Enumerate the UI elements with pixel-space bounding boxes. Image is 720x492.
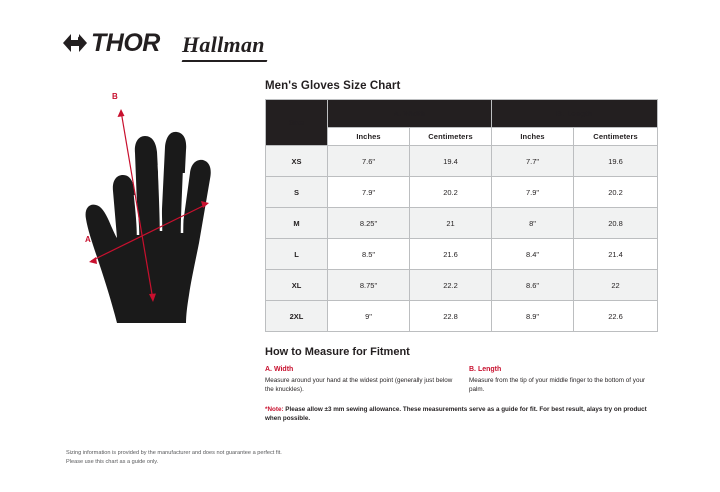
cell-size: L	[266, 239, 328, 270]
cell-width-cm: 22.8	[410, 301, 492, 332]
table-row: 2XL 9" 22.8 8.9" 22.6	[266, 301, 658, 332]
cell-width-cm: 22.2	[410, 270, 492, 301]
header-length-inches: Inches	[492, 128, 574, 146]
cell-length-cm: 20.8	[574, 208, 658, 239]
header-group-length: B. Length	[492, 100, 658, 128]
brand-logos: THOR Hallman	[62, 30, 282, 70]
measure-width-body: Measure around your hand at the widest p…	[265, 376, 453, 394]
size-chart-table: Size A. Width B. Length Inches Centimete…	[265, 99, 658, 332]
hand-illustration	[55, 95, 255, 325]
table-row: L 8.5" 21.6 8.4" 21.4	[266, 239, 658, 270]
table-row: S 7.9" 20.2 7.9" 20.2	[266, 177, 658, 208]
hallman-wordmark: Hallman	[182, 32, 265, 58]
footer-line-1: Sizing information is provided by the ma…	[66, 449, 282, 458]
cell-length-cm: 19.6	[574, 146, 658, 177]
cell-width-inches: 8.5"	[328, 239, 410, 270]
measure-length-block: B. Length Measure from the tip of your m…	[469, 366, 657, 394]
measure-width-block: A. Width Measure around your hand at the…	[265, 366, 453, 394]
cell-width-inches: 7.6"	[328, 146, 410, 177]
cell-length-inches: 8.9"	[492, 301, 574, 332]
cell-size: XL	[266, 270, 328, 301]
size-chart-panel: Men's Gloves Size Chart Size A. Width B.…	[265, 80, 657, 424]
cell-width-inches: 7.9"	[328, 177, 410, 208]
footer-disclaimer: Sizing information is provided by the ma…	[66, 449, 282, 467]
table-header-group-row: Size A. Width B. Length	[266, 100, 658, 128]
measure-width-heading: A. Width	[265, 366, 453, 373]
cell-width-cm: 20.2	[410, 177, 492, 208]
page-title: Men's Gloves Size Chart	[265, 80, 657, 92]
cell-length-cm: 22	[574, 270, 658, 301]
measurement-note: *Note: Please allow ±3 mm sewing allowan…	[265, 405, 650, 423]
table-row: XL 8.75" 22.2 8.6" 22	[266, 270, 658, 301]
cell-width-cm: 21	[410, 208, 492, 239]
diagram-label-b: B	[112, 92, 118, 101]
measure-length-heading: B. Length	[469, 366, 657, 373]
footer-line-2: Please use this chart as a guide only.	[66, 458, 282, 467]
header-width-centimeters: Centimeters	[410, 128, 492, 146]
header-length-centimeters: Centimeters	[574, 128, 658, 146]
cell-size: M	[266, 208, 328, 239]
note-label: *Note:	[265, 406, 284, 413]
measure-length-body: Measure from the tip of your middle fing…	[469, 376, 657, 394]
cell-size: XS	[266, 146, 328, 177]
cell-length-inches: 8.4"	[492, 239, 574, 270]
cell-width-inches: 8.25"	[328, 208, 410, 239]
diagram-label-a: A	[85, 235, 91, 244]
note-text: Please allow ±3 mm sewing allowance. The…	[265, 406, 647, 422]
table-row: XS 7.6" 19.4 7.7" 19.6	[266, 146, 658, 177]
cell-length-cm: 22.6	[574, 301, 658, 332]
cell-length-inches: 8"	[492, 208, 574, 239]
cell-width-inches: 9"	[328, 301, 410, 332]
header-group-width: A. Width	[328, 100, 492, 128]
cell-width-cm: 19.4	[410, 146, 492, 177]
thor-wordmark: THOR	[91, 31, 160, 56]
header-width-inches: Inches	[328, 128, 410, 146]
cell-length-cm: 20.2	[574, 177, 658, 208]
how-to-measure-title: How to Measure for Fitment	[265, 346, 657, 358]
header-size: Size	[266, 100, 328, 146]
cell-length-inches: 7.7"	[492, 146, 574, 177]
cell-length-inches: 8.6"	[492, 270, 574, 301]
cell-size: 2XL	[266, 301, 328, 332]
cell-width-cm: 21.6	[410, 239, 492, 270]
thor-hammer-icon	[62, 30, 88, 56]
cell-size: S	[266, 177, 328, 208]
cell-length-cm: 21.4	[574, 239, 658, 270]
cell-width-inches: 8.75"	[328, 270, 410, 301]
how-to-measure-section: How to Measure for Fitment A. Width Meas…	[265, 346, 657, 424]
hallman-underline	[182, 60, 268, 62]
thor-logo: THOR	[62, 30, 160, 56]
table-row: M 8.25" 21 8" 20.8	[266, 208, 658, 239]
hand-measurement-diagram: A B	[55, 95, 255, 325]
cell-length-inches: 7.9"	[492, 177, 574, 208]
